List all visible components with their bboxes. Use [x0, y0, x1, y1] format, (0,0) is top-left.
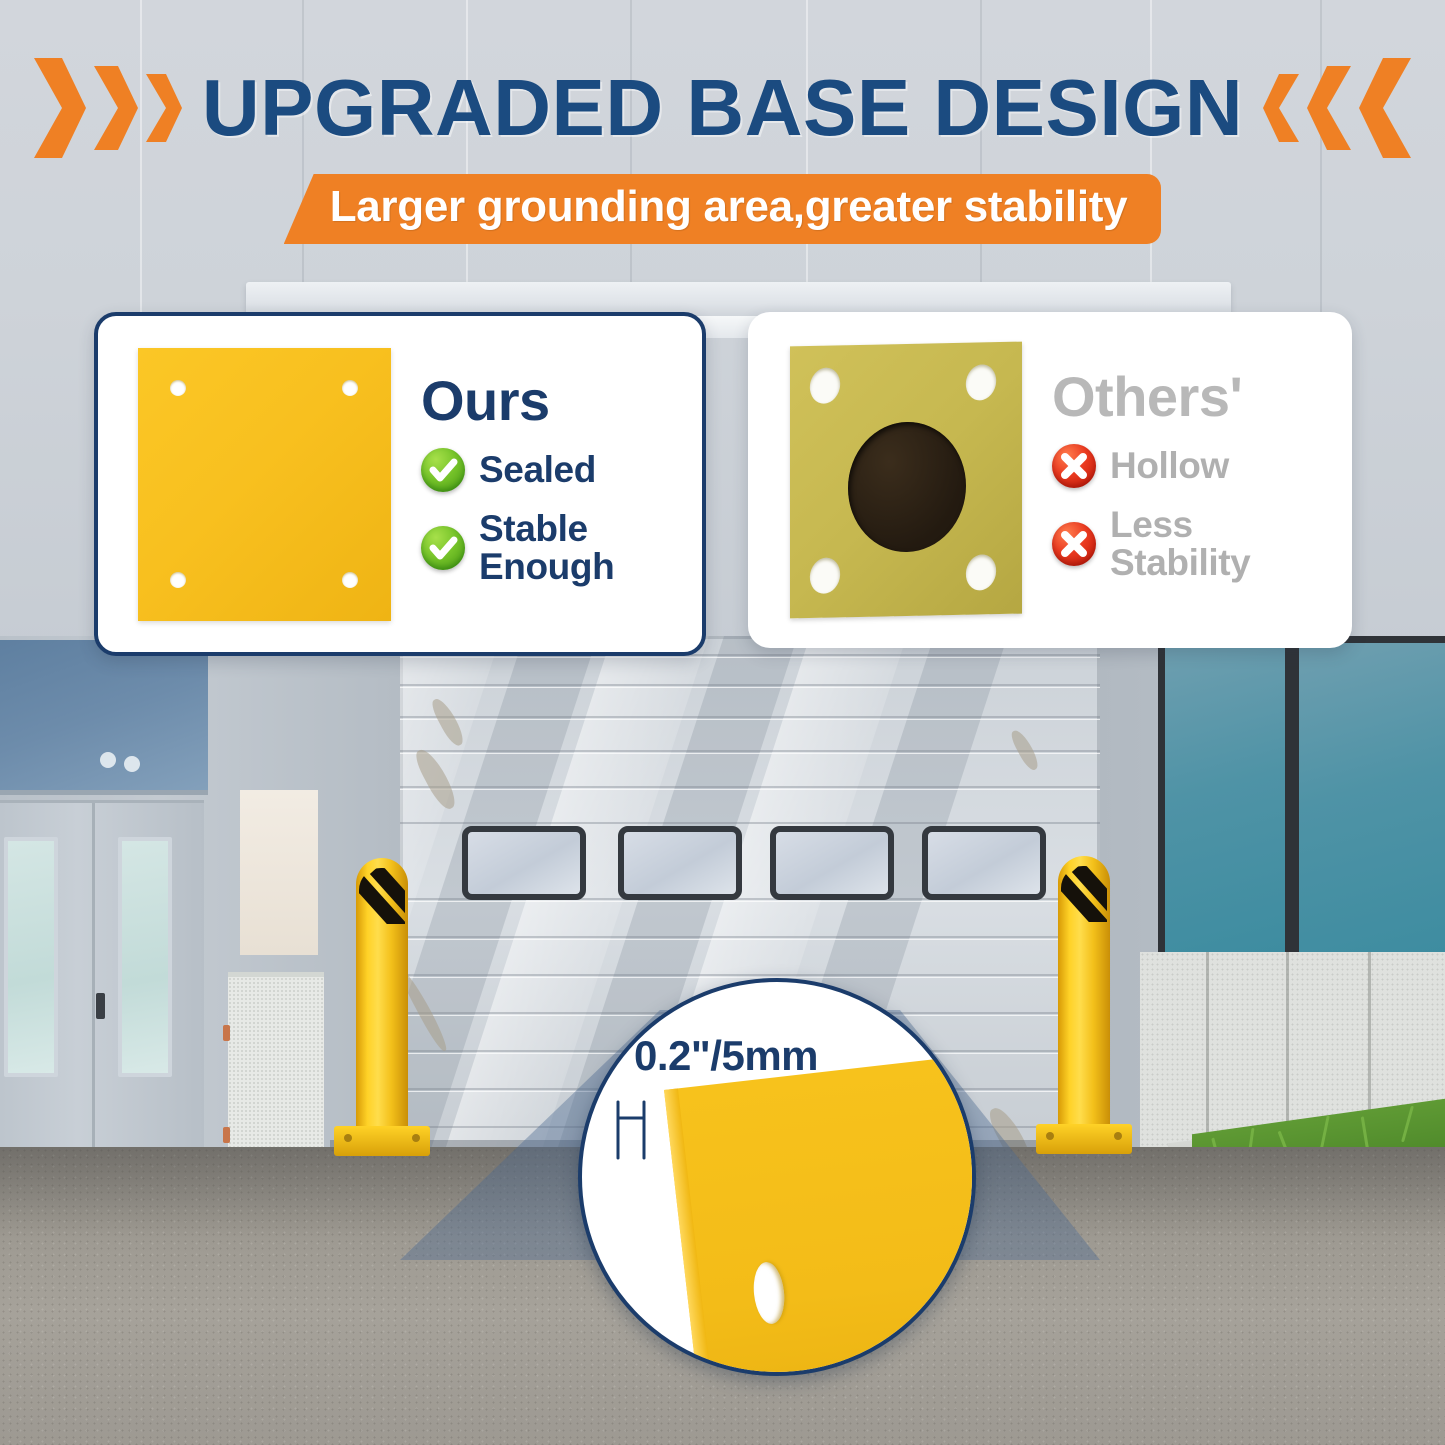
feature-row: Hollow — [1052, 444, 1352, 488]
feature-label: Hollow — [1110, 447, 1229, 485]
wall-panel-stucco — [228, 972, 324, 1152]
brand-label-ours: Ours — [421, 373, 702, 429]
feature-label: Stable Enough — [479, 510, 689, 585]
dimension-bracket-icon — [612, 1100, 664, 1162]
feature-row: Stable Enough — [421, 510, 702, 585]
solid-yellow-base-plate-image — [98, 348, 391, 621]
dimension-label: 0.2"/5mm — [634, 1032, 818, 1080]
header: UPGRADED BASE DESIGN Larger grounding ar… — [0, 56, 1445, 244]
green-check-icon — [421, 448, 465, 492]
feature-row: Sealed — [421, 448, 702, 492]
wall-panel-cream — [240, 790, 318, 955]
feature-label: Sealed — [479, 451, 596, 489]
page-title: UPGRADED BASE DESIGN — [202, 62, 1243, 154]
window-glass — [1158, 636, 1292, 968]
marketing-image: UPGRADED BASE DESIGN Larger grounding ar… — [0, 0, 1445, 1445]
chevrons-left-icon — [1261, 56, 1413, 160]
red-x-icon — [1052, 444, 1096, 488]
red-x-icon — [1052, 522, 1096, 566]
green-check-icon — [421, 526, 465, 570]
magnifier-callout-icon: 0.2"/5mm — [578, 978, 976, 1376]
hollow-base-plate-image — [748, 344, 1022, 616]
chevrons-right-icon — [32, 56, 184, 160]
window-glass — [1292, 636, 1445, 968]
feature-label: Less Stability — [1110, 506, 1340, 581]
upper-window — [0, 640, 208, 795]
comparison-card-others: Others' Hollow Less Stability — [748, 312, 1352, 648]
brand-label-others: Others' — [1052, 369, 1352, 425]
feature-row: Less Stability — [1052, 506, 1352, 581]
comparison-card-ours: Ours Sealed Stable Enough — [94, 312, 706, 656]
entry-doors — [0, 800, 204, 1199]
page-subtitle: Larger grounding area,greater stability — [284, 174, 1162, 244]
